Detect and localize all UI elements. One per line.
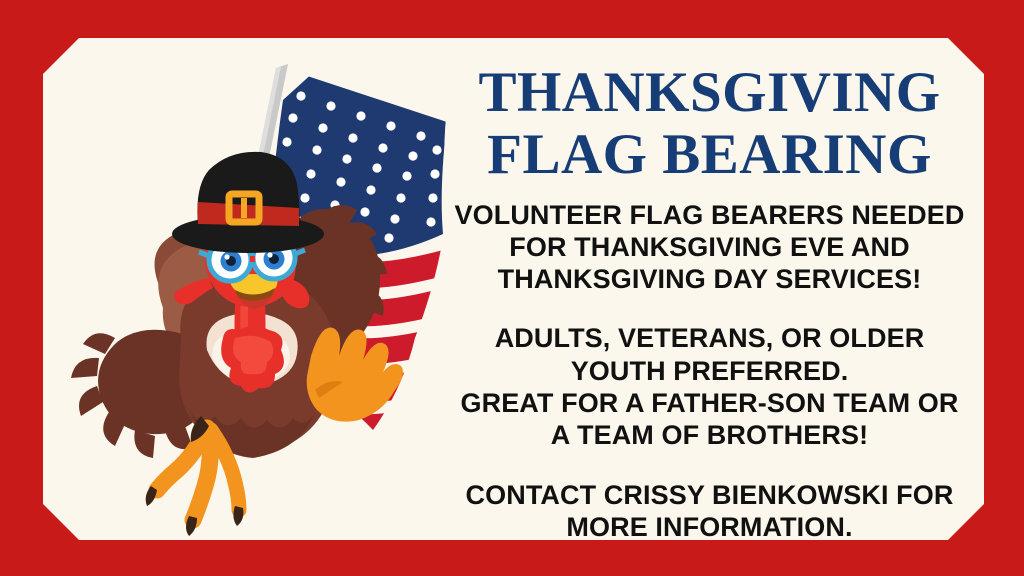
paragraph-2-line-1: ADULTS, VETERANS, OR OLDER bbox=[443, 322, 976, 354]
body-paragraph-3: CONTACT CRISSY BIENKOWSKI FOR MORE INFOR… bbox=[435, 479, 984, 540]
headline-line-1: THANKSGIVING bbox=[435, 62, 984, 124]
poster-text-column: THANKSGIVING FLAG BEARING VOLUNTEER FLAG… bbox=[435, 38, 984, 540]
headline-line-2: FLAG BEARING bbox=[435, 124, 984, 186]
poster-inner-panel: THANKSGIVING FLAG BEARING VOLUNTEER FLAG… bbox=[43, 38, 984, 540]
turkey-character bbox=[71, 152, 403, 536]
paragraph-1-line-1: VOLUNTEER FLAG BEARERS NEEDED bbox=[443, 199, 976, 231]
page-title: THANKSGIVING FLAG BEARING bbox=[435, 38, 984, 185]
body-paragraph-1: VOLUNTEER FLAG BEARERS NEEDED FOR THANKS… bbox=[435, 199, 984, 295]
body-paragraph-2: ADULTS, VETERANS, OR OLDER YOUTH PREFERR… bbox=[435, 322, 984, 451]
turkey-with-flag-illustration bbox=[43, 38, 473, 540]
paragraph-3-line-1: CONTACT CRISSY BIENKOWSKI FOR bbox=[443, 479, 976, 511]
paragraph-1-line-3: THANKSGIVING DAY SERVICES! bbox=[443, 263, 976, 295]
paragraph-1-line-2: FOR THANKSGIVING EVE AND bbox=[443, 231, 976, 263]
paragraph-2-line-2: YOUTH PREFERRED. bbox=[443, 355, 976, 387]
paragraph-2-line-3: GREAT FOR A FATHER-SON TEAM OR bbox=[443, 387, 976, 419]
paragraph-2-line-4: A TEAM OF BROTHERS! bbox=[443, 419, 976, 451]
paragraph-3-line-2: MORE INFORMATION. bbox=[443, 511, 976, 540]
poster-root: THANKSGIVING FLAG BEARING VOLUNTEER FLAG… bbox=[0, 0, 1024, 576]
